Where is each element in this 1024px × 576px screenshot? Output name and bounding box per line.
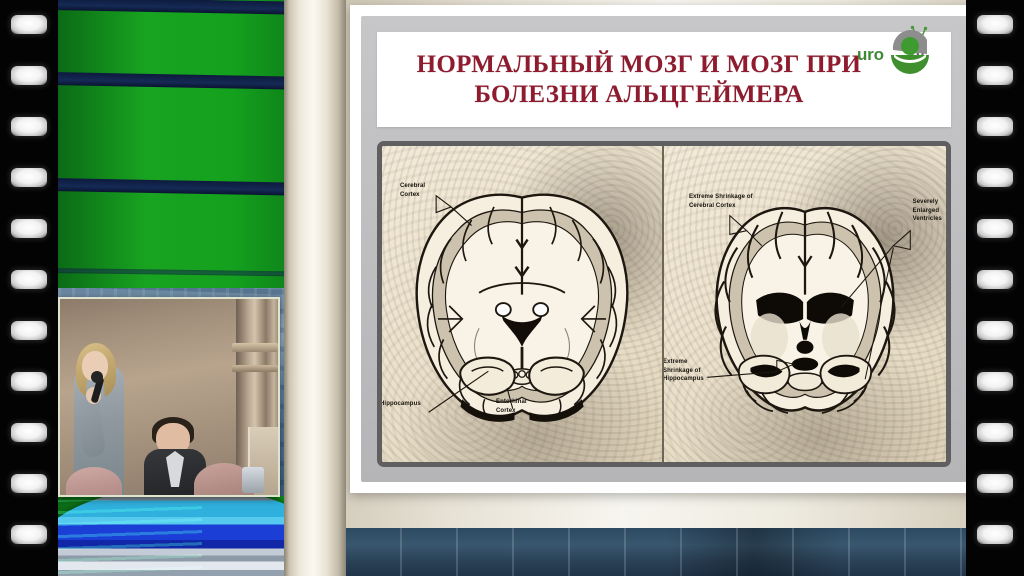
label-extreme-shrinkage-cortex: Extreme Shrinkage of Cerebral Cortex: [689, 193, 753, 210]
normal-brain-panel: Cerebral Cortex Hippocampus Entorhinal C…: [382, 146, 664, 462]
broadcast-screen: НОРМАЛЬНЫЙ МОЗГ И МОЗГ ПРИ БОЛЕЗНИ АЛЬЦГ…: [0, 0, 1024, 576]
filmstrip-sprocket: [977, 321, 1013, 340]
urotv-logo: uro: [857, 24, 966, 86]
page-title: НОРМАЛЬНЫЙ МОЗГ И МОЗГ ПРИ БОЛЕЗНИ АЛЬЦГ…: [407, 50, 922, 109]
label-extreme-shrinkage-hippocampus: Extreme Shrinkage of Hippocampus: [664, 358, 704, 384]
filmstrip-sprocket: [977, 219, 1013, 238]
filmstrip-sprocket: [977, 423, 1013, 442]
slide-title-line-2: БОЛЕЗНИ АЛЬЦГЕЙМЕРА: [474, 81, 803, 108]
filmstrip-sprocket: [977, 525, 1013, 544]
filmstrip-sprocket: [977, 66, 1013, 85]
microphone-head-icon: [91, 371, 103, 383]
filmstrip-sprocket: [11, 321, 47, 340]
filmstrip-sprocket: [977, 168, 1013, 187]
brain-comparison-figure: Cerebral Cortex Hippocampus Entorhinal C…: [377, 141, 951, 467]
slide-title-line-1: НОРМАЛЬНЫЙ МОЗГ И МОЗГ ПРИ: [417, 51, 862, 78]
filmstrip-sprocket: [11, 525, 47, 544]
label-hippocampus: Hippocampus: [382, 400, 421, 409]
slide-canvas: НОРМАЛЬНЫЙ МОЗГ И МОЗГ ПРИ БОЛЕЗНИ АЛЬЦГ…: [361, 16, 966, 482]
label-severely-enlarged-ventricles: Severely Enlarged Ventricles: [913, 198, 942, 224]
filmstrip-sprocket: [977, 117, 1013, 136]
filmstrip-sprocket: [11, 270, 47, 289]
filmstrip-left: [0, 0, 58, 576]
room-base-band: [344, 528, 966, 576]
presentation-slide[interactable]: НОРМАЛЬНЫЙ МОЗГ И МОЗГ ПРИ БОЛЕЗНИ АЛЬЦГ…: [350, 5, 966, 493]
filmstrip-sprocket: [977, 270, 1013, 289]
filmstrip-sprocket: [11, 474, 47, 493]
filmstrip-sprocket: [11, 372, 47, 391]
conference-scene: [60, 299, 278, 495]
phone-icon: [242, 467, 264, 493]
label-cerebral-cortex: Cerebral Cortex: [400, 182, 425, 199]
filmstrip-sprocket: [977, 372, 1013, 391]
desk-light-strip: [58, 500, 202, 576]
filmstrip-sprocket: [977, 474, 1013, 493]
filmstrip-sprocket: [11, 423, 47, 442]
speaker-video-inset[interactable]: [58, 297, 280, 497]
bug-icon: [883, 24, 935, 85]
slide-title-box: НОРМАЛЬНЫЙ МОЗГ И МОЗГ ПРИ БОЛЕЗНИ АЛЬЦГ…: [377, 32, 951, 127]
filmstrip-sprocket: [11, 15, 47, 34]
logo-text-uro: uro: [857, 45, 884, 65]
filmstrip-sprocket: [11, 117, 47, 136]
pillar-cap: [232, 343, 278, 352]
alzheimer-brain-panel: Extreme Shrinkage of Cerebral Cortex Sev…: [664, 146, 946, 462]
label-entorhinal-cortex: Entorhinal Cortex: [496, 398, 527, 415]
filmstrip-right: [966, 0, 1024, 576]
presentation-area: НОРМАЛЬНЫЙ МОЗГ И МОЗГ ПРИ БОЛЕЗНИ АЛЬЦГ…: [344, 0, 966, 576]
filmstrip-sprocket: [977, 15, 1013, 34]
filmstrip-sprocket: [11, 66, 47, 85]
set-divider-pillar: [284, 0, 346, 576]
filmstrip-sprocket: [11, 168, 47, 187]
pillar-cap: [232, 365, 278, 372]
filmstrip-sprocket: [11, 219, 47, 238]
